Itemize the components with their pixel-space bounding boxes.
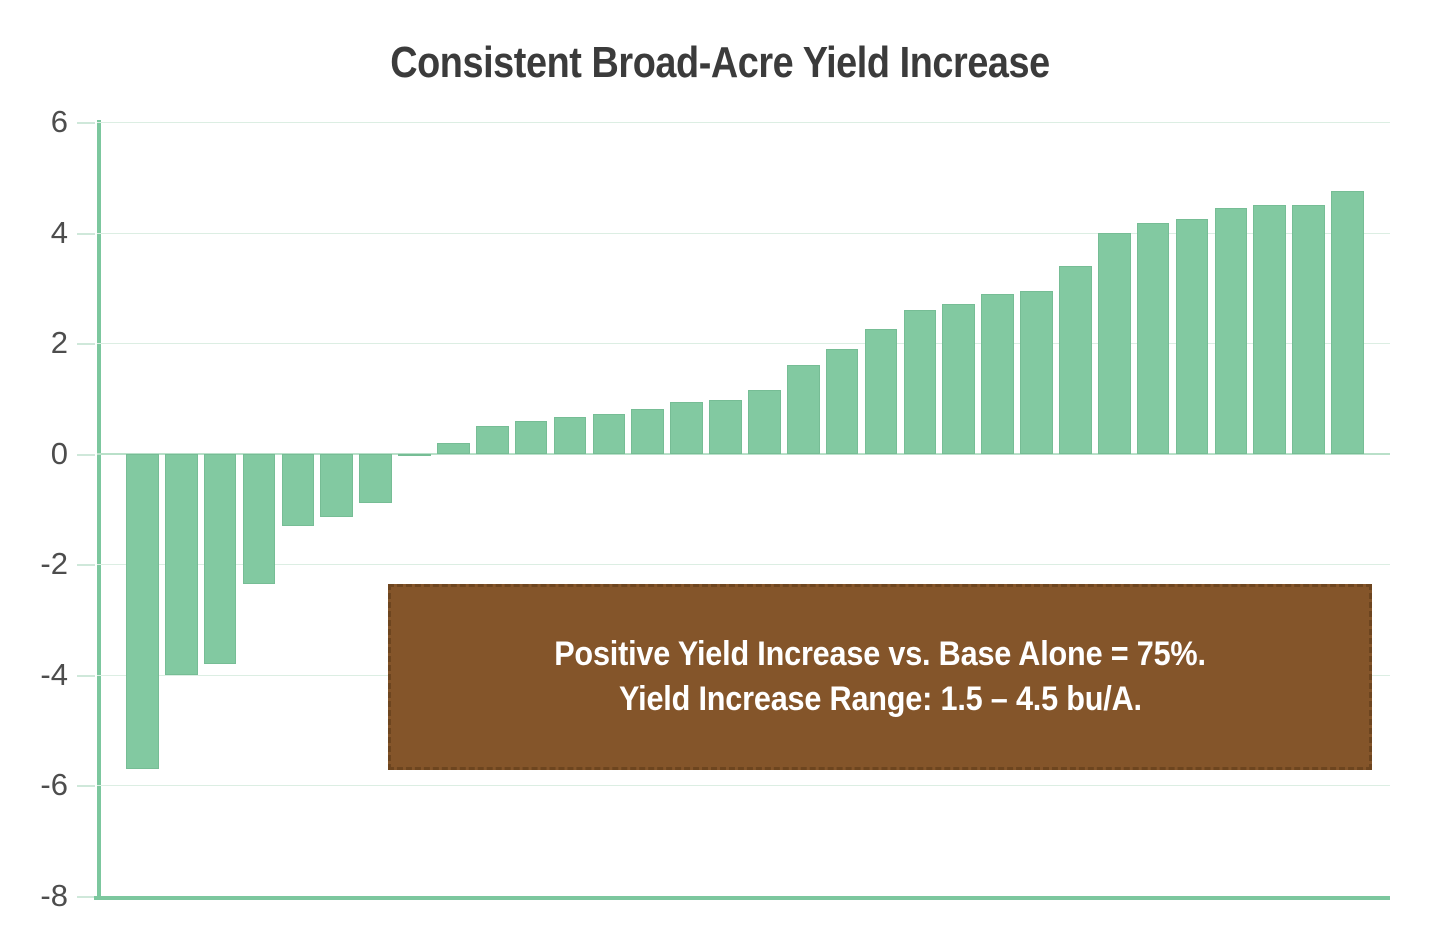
y-tick-label-6: 6 [51, 106, 68, 137]
y-tick-label-0: 0 [51, 438, 68, 469]
bar [554, 417, 587, 454]
gridline--6 [97, 785, 1390, 786]
y-tick-label-4: 4 [51, 217, 68, 248]
bar [631, 409, 664, 453]
bar [981, 294, 1014, 453]
bar [787, 365, 820, 453]
bar [670, 402, 703, 453]
bar [437, 443, 470, 454]
bar [1176, 219, 1209, 454]
y-tick-mark-4 [77, 233, 95, 235]
bar [1331, 191, 1364, 454]
y-tick-mark--4 [77, 675, 95, 677]
bar [748, 390, 781, 454]
bar [865, 329, 898, 453]
bar [1098, 233, 1131, 454]
bar [942, 304, 975, 453]
bar [593, 414, 626, 454]
bar [243, 454, 276, 584]
bar [398, 454, 431, 457]
bar [1215, 208, 1248, 454]
y-tick-mark--2 [77, 564, 95, 566]
bar [320, 454, 353, 518]
bar [515, 421, 548, 454]
y-tick-label-2: 2 [51, 327, 68, 358]
gridline-6 [97, 122, 1390, 123]
bar [904, 310, 937, 454]
gridline--2 [97, 564, 1390, 565]
bar [1253, 205, 1286, 454]
y-tick-mark--6 [77, 785, 95, 787]
callout-line-2: Yield Increase Range: 1.5 – 4.5 bu/A. [619, 680, 1142, 719]
callout-box: Positive Yield Increase vs. Base Alone =… [388, 584, 1372, 770]
y-tick-label--6: -6 [40, 769, 68, 800]
bar [359, 454, 392, 504]
bar [476, 426, 509, 454]
y-tick-mark-0 [77, 454, 95, 456]
bar [1059, 266, 1092, 454]
bar [709, 400, 742, 454]
plot-area [97, 122, 1390, 896]
bar [282, 454, 315, 526]
y-tick-mark--8 [77, 896, 95, 898]
bar [165, 454, 198, 675]
y-tick-label--8: -8 [40, 880, 68, 911]
chart-title: Consistent Broad-Acre Yield Increase [101, 38, 1339, 88]
bar [1137, 223, 1170, 454]
y-tick-mark-2 [77, 343, 95, 345]
bar [1292, 205, 1325, 454]
chart-figure: Consistent Broad-Acre Yield Increase 642… [0, 0, 1440, 936]
bar [826, 349, 859, 454]
y-tick-label--4: -4 [40, 659, 68, 690]
bar [204, 454, 237, 664]
y-tick-label--2: -2 [40, 548, 68, 579]
callout-line-1: Positive Yield Increase vs. Base Alone =… [554, 635, 1206, 674]
bar [1020, 291, 1053, 454]
bar [126, 454, 159, 769]
y-tick-mark-6 [77, 122, 95, 124]
gridline--8 [94, 896, 1390, 900]
